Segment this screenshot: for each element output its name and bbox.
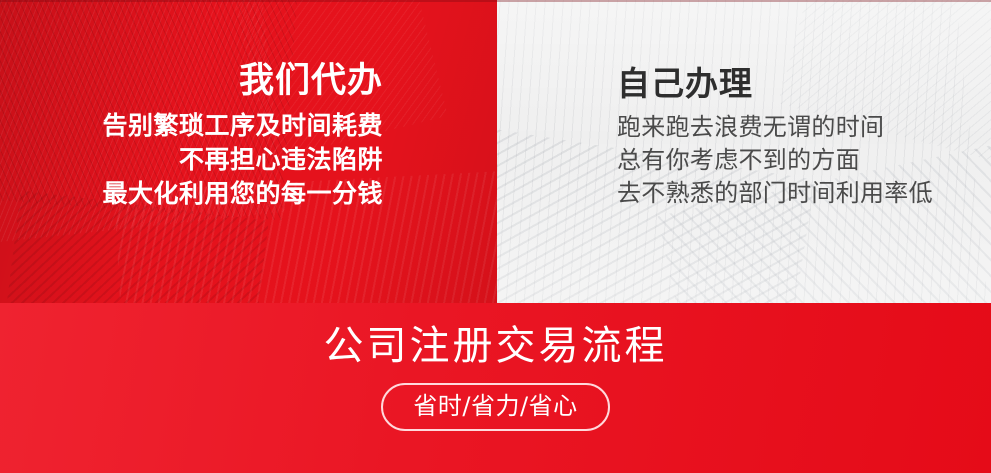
right-panel-title: 自己办理	[617, 66, 991, 103]
bottom-banner: 公司注册交易流程 省时/省力/省心	[0, 303, 991, 473]
promo-banner: 我们代办 告别繁琐工序及时间耗费 不再担心违法陷阱 最大化利用您的每一分钱 自己…	[0, 0, 991, 473]
left-panel-benefit-line: 不再担心违法陷阱	[0, 143, 383, 177]
right-panel-drawback-line: 去不熟悉的部门时间利用率低	[617, 177, 991, 210]
left-panel-benefit-line: 告别繁琐工序及时间耗费	[0, 109, 383, 143]
left-panel-text-block: 我们代办 告别繁琐工序及时间耗费 不再担心违法陷阱 最大化利用您的每一分钱	[0, 62, 383, 211]
left-panel-benefit-line: 最大化利用您的每一分钱	[0, 177, 383, 211]
comparison-section: 我们代办 告别繁琐工序及时间耗费 不再担心违法陷阱 最大化利用您的每一分钱 自己…	[0, 0, 991, 303]
bottom-banner-content: 公司注册交易流程 省时/省力/省心	[0, 303, 991, 473]
left-panel-benefit-list: 告别繁琐工序及时间耗费 不再担心违法陷阱 最大化利用您的每一分钱	[0, 109, 383, 211]
right-panel-drawback-list: 跑来跑去浪费无谓的时间 总有你考虑不到的方面 去不熟悉的部门时间利用率低	[617, 111, 991, 210]
left-panel-title: 我们代办	[0, 62, 383, 101]
right-panel-drawback-line: 总有你考虑不到的方面	[617, 144, 991, 177]
top-edge-divider	[0, 0, 991, 2]
bottom-banner-title: 公司注册交易流程	[324, 323, 668, 369]
right-panel-text-block: 自己办理 跑来跑去浪费无谓的时间 总有你考虑不到的方面 去不熟悉的部门时间利用率…	[617, 66, 991, 210]
bottom-banner-pill-badge[interactable]: 省时/省力/省心	[381, 383, 609, 431]
right-panel-drawback-line: 跑来跑去浪费无谓的时间	[617, 111, 991, 144]
